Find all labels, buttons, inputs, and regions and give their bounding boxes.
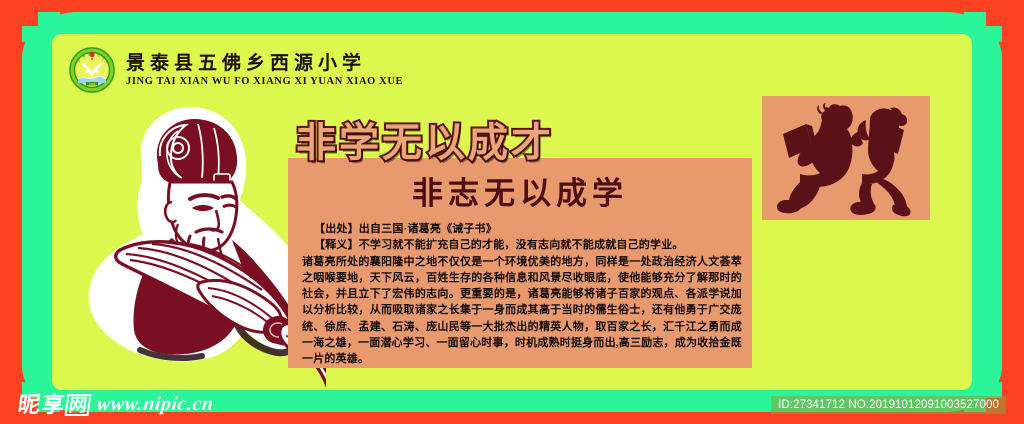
svg-text:1960: 1960 [89,82,96,86]
frame-corner-cut-tl [22,12,38,26]
source-line: 【出处】出自三国·诸葛亮《诫子书》 [302,221,742,237]
page-subtitle: 非志无以成学 [288,168,752,213]
school-header: 景泰 县西 源小 1960 景泰县五佛乡西源小学 JING TAI XIAN W… [68,46,403,94]
svg-text:西: 西 [97,53,100,57]
watermark-url: www.nipic.cn [96,393,215,416]
reading-children-panel [762,96,930,220]
watermark-char-3: 网 [64,394,91,416]
meaning-line: 【释义】不学习就不能扩充自己的才能，没有志向就不能成就自己的学业。 [302,237,742,253]
explanation-paragraph: 诸葛亮所处的襄阳隆中之地不仅仅是一个环境优美的地方，同样是一处政治经济人文荟萃之… [302,254,742,368]
school-name-block: 景泰县五佛乡西源小学 JING TAI XIAN WU FO XIANG XI … [126,53,403,87]
watermark-char-1: 昵 [16,394,41,416]
school-emblem-icon: 景泰 县西 源小 1960 [68,46,116,94]
page-title: 非学无以成才 [296,110,554,168]
watermark-char-2: 享 [40,394,65,416]
school-name-cn: 景泰县五佛乡西源小学 [126,53,403,75]
asset-id-badge: ID:27341712 NO:20191012091003527000 [771,396,1006,414]
poster-canvas: 景泰 县西 源小 1960 景泰县五佛乡西源小学 JING TAI XIAN W… [0,0,1024,424]
svg-text:景: 景 [77,57,80,62]
body-text-block: 【出处】出自三国·诸葛亮《诫子书》 【释义】不学习就不能扩充自己的才能，没有志向… [302,221,742,368]
svg-text:县: 县 [88,51,91,56]
watermark-brand-chars: 昵 享 网 [18,394,90,416]
content-panel: 非志无以成学 【出处】出自三国·诸葛亮《诫子书》 【释义】不学习就不能扩充自己的… [288,158,752,368]
school-name-en: JING TAI XIAN WU FO XIANG XI YUAN XIAO X… [126,76,403,87]
frame-corner-cut-tr [986,12,1002,26]
two-children-reading-books-icon [762,96,930,220]
watermark-logo: 昵 享 网 www.nipic.cn [18,393,213,416]
